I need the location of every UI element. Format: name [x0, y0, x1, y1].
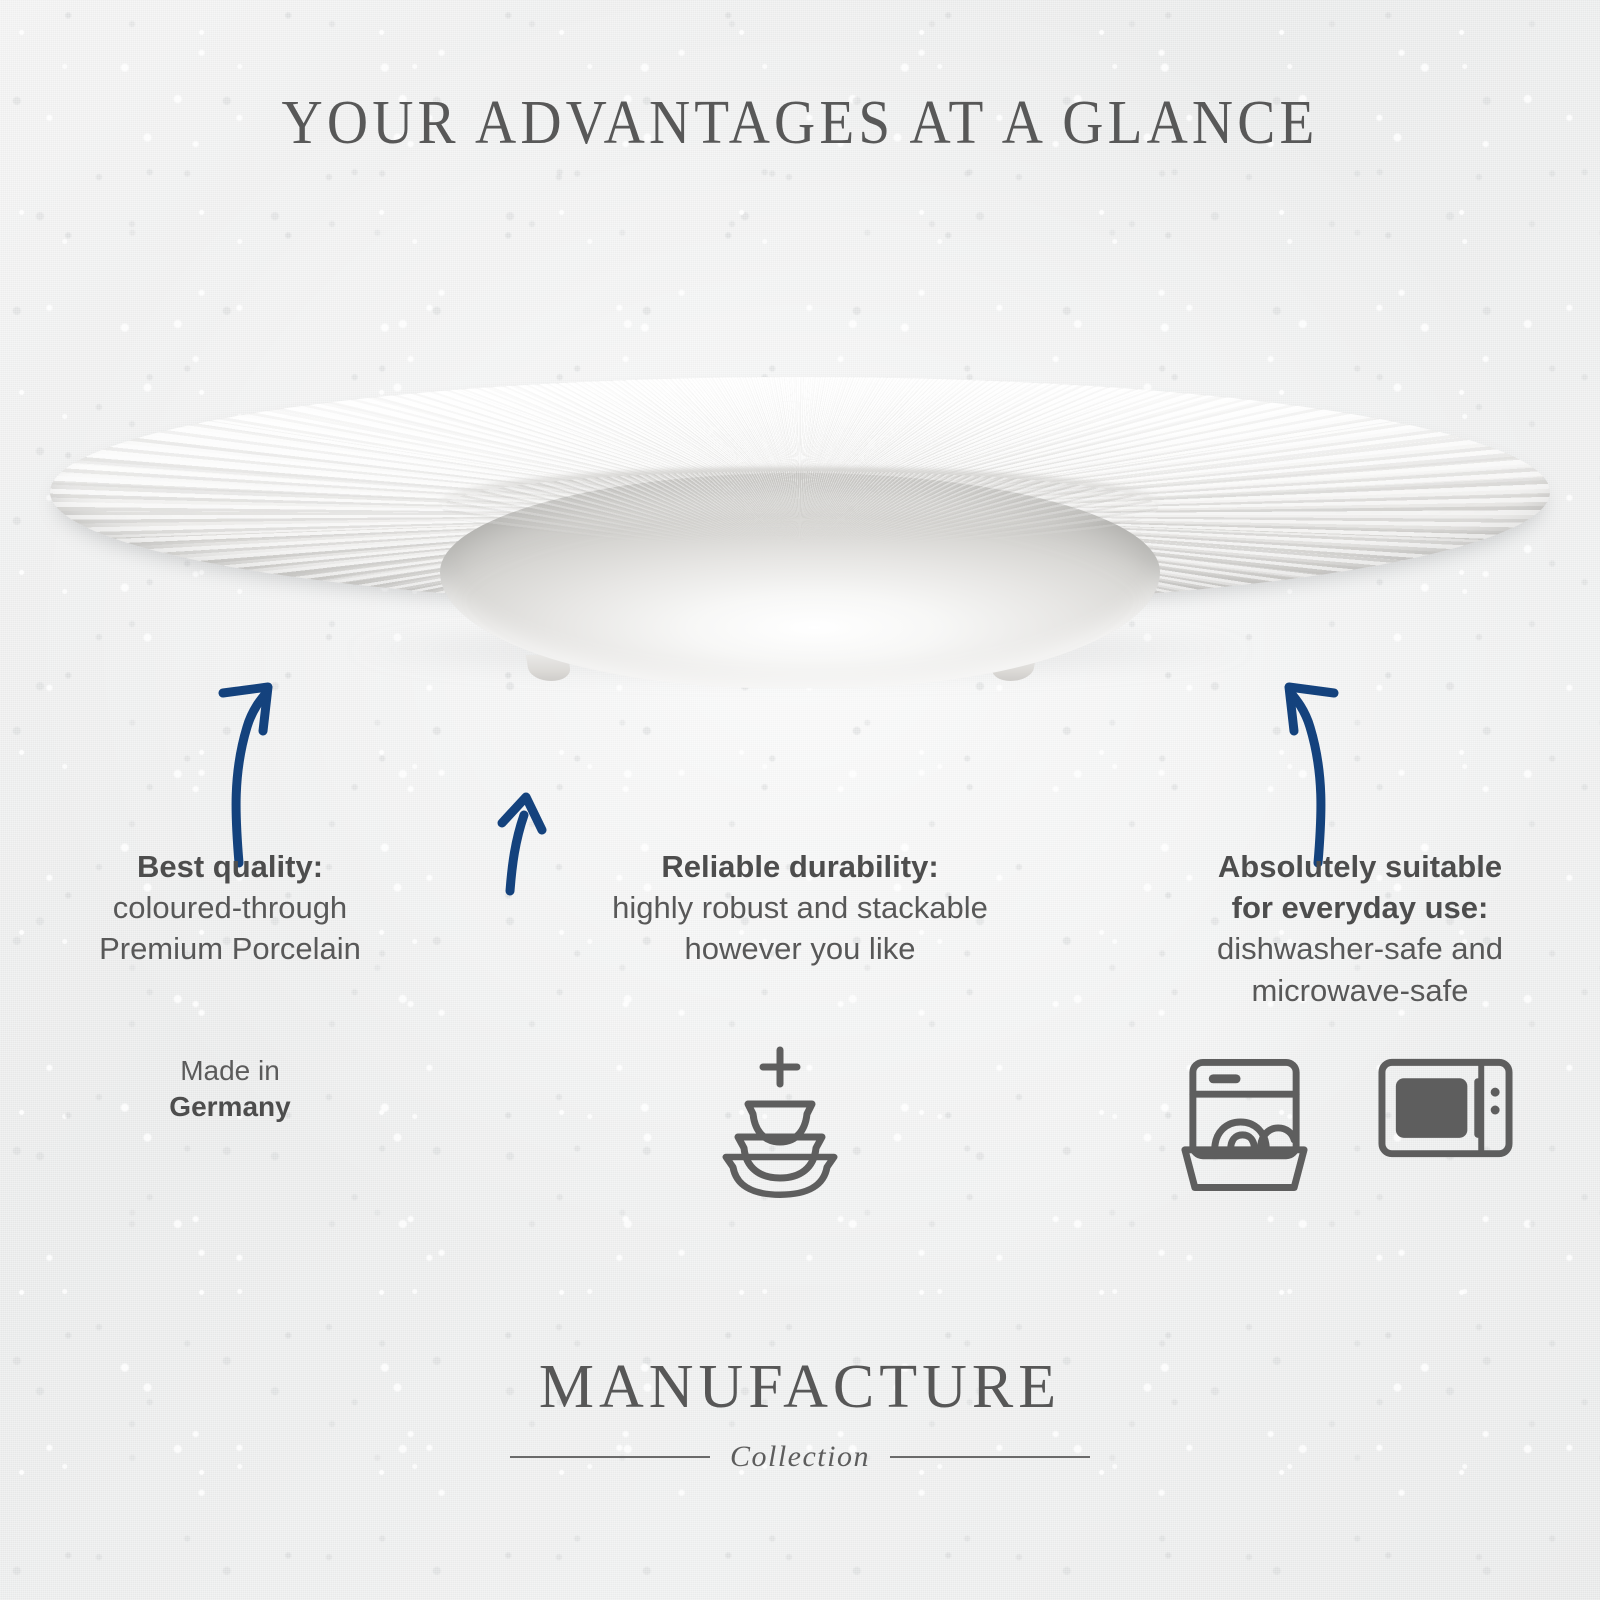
feature-best-quality: Best quality: coloured-through Premium P…: [30, 846, 430, 970]
page-title: YOUR ADVANTAGES AT A GLANCE: [64, 88, 1536, 159]
feature-1-heading: Best quality:: [30, 846, 430, 887]
curved-arrow-up-left-icon: [1268, 665, 1398, 865]
product-well-texture: [442, 471, 1158, 545]
brand-subtitle: Collection: [730, 1440, 870, 1474]
microwave-door-window: [1396, 1078, 1467, 1138]
brand-subtitle-row: Collection: [0, 1440, 1600, 1474]
feature-everyday-use: Absolutely suitable for everyday use: di…: [1160, 846, 1560, 1011]
made-in-germany-label: Made in Germany: [30, 1053, 430, 1126]
feature-2-line-2: however you like: [540, 928, 1060, 969]
feature-columns: Best quality: coloured-through Premium P…: [0, 846, 1600, 1066]
made-in-country: Germany: [30, 1089, 430, 1125]
brand-rule-left: [510, 1456, 710, 1458]
product-image-porcelain-bowl: [40, 355, 1560, 715]
feature-1-line-1: coloured-through: [30, 887, 430, 928]
stackable-bowls-plus-icon: [690, 1040, 870, 1200]
care-symbol-icons: [1175, 1052, 1515, 1192]
dishwasher-safe-icon: [1175, 1052, 1314, 1192]
dishwasher-handle: [1209, 1074, 1241, 1083]
feature-reliable-durability: Reliable durability: highly robust and s…: [540, 846, 1060, 970]
infographic-canvas: YOUR ADVANTAGES AT A GLANCE: [0, 0, 1600, 1600]
brand-name: MANUFACTURE: [0, 1356, 1600, 1418]
dishwasher-body: [1193, 1062, 1296, 1155]
feature-1-line-2: Premium Porcelain: [30, 928, 430, 969]
feature-3-line-1: dishwasher-safe and: [1160, 928, 1560, 969]
feature-2-heading: Reliable durability:: [540, 846, 1060, 887]
microwave-safe-icon: [1376, 1052, 1515, 1172]
brand-rule-right: [890, 1456, 1090, 1458]
feature-3-heading-line-2: for everyday use:: [1160, 887, 1560, 928]
microwave-knob-bottom: [1491, 1106, 1500, 1115]
brand-lockup: MANUFACTURE Collection: [0, 1356, 1600, 1474]
feature-3-line-2: microwave-safe: [1160, 970, 1560, 1011]
feature-2-line-1: highly robust and stackable: [540, 887, 1060, 928]
made-in-prefix: Made in: [30, 1053, 430, 1089]
microwave-knob-top: [1491, 1088, 1500, 1097]
feature-3-heading-line-1: Absolutely suitable: [1160, 846, 1560, 887]
curved-arrow-up-right-icon: [155, 665, 285, 865]
